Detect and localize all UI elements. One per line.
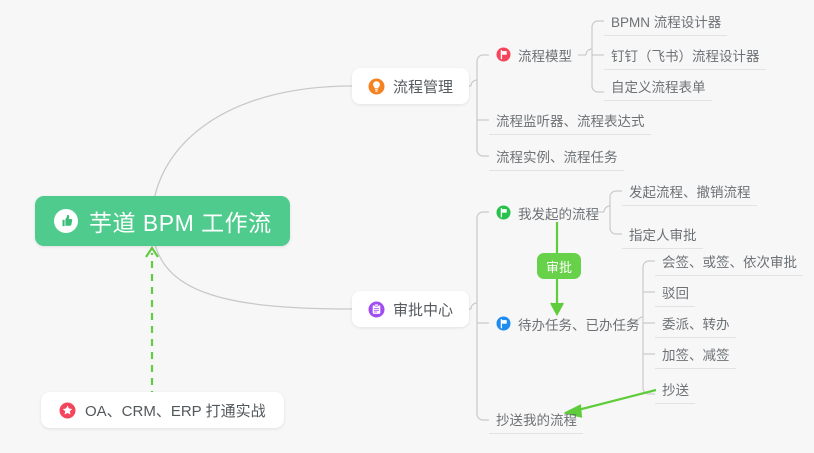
- dashed-arrow-to-root: [146, 248, 158, 398]
- node-my-started-process-label: 我发起的流程: [518, 203, 599, 223]
- node-my-started-process[interactable]: 我发起的流程: [489, 198, 605, 227]
- node-bpmn-designer-label: BPMN 流程设计器: [611, 11, 721, 31]
- root-node[interactable]: 芋道 BPM 工作流: [35, 196, 290, 246]
- node-add-remove-sign[interactable]: 加签、减签: [655, 340, 736, 369]
- flag-icon: [496, 205, 511, 220]
- node-add-remove-sign-label: 加签、减签: [662, 344, 730, 364]
- node-assignee-approval[interactable]: 指定人审批: [622, 220, 703, 249]
- node-bpmn-designer[interactable]: BPMN 流程设计器: [604, 7, 727, 36]
- node-process-instance-label: 流程实例、流程任务: [496, 146, 618, 166]
- lightbulb-icon: [368, 78, 385, 95]
- branch-process-management[interactable]: 流程管理: [352, 68, 469, 104]
- node-integration-practice[interactable]: OA、CRM、ERP 打通实战: [41, 392, 284, 428]
- node-integration-practice-label: OA、CRM、ERP 打通实战: [85, 400, 266, 421]
- node-dingtalk-designer-label: 钉钉（飞书）流程设计器: [611, 45, 760, 65]
- approval-badge[interactable]: 审批: [537, 253, 581, 279]
- node-reject[interactable]: 驳回: [655, 278, 695, 307]
- node-process-model[interactable]: 流程模型: [489, 40, 578, 69]
- thumbs-up-icon: [53, 208, 79, 234]
- node-cc-to-me-process[interactable]: 抄送我的流程: [489, 405, 583, 434]
- node-delegate-transfer-label: 委派、转办: [662, 313, 730, 333]
- node-cc[interactable]: 抄送: [655, 375, 695, 404]
- branch-approval-center-label: 审批中心: [393, 299, 453, 320]
- node-custom-form-label: 自定义流程表单: [611, 76, 706, 96]
- clipboard-icon: [368, 301, 385, 318]
- mindmap-canvas: 芋道 BPM 工作流 流程管理 流程模型 BPMN 流程设计器 钉钉（飞书）流程: [0, 0, 814, 453]
- node-todo-done-tasks[interactable]: 待办任务、已办任务: [489, 309, 646, 338]
- node-process-instance[interactable]: 流程实例、流程任务: [489, 142, 624, 171]
- node-start-cancel-process[interactable]: 发起流程、撤销流程: [622, 177, 757, 206]
- flag-icon: [496, 47, 511, 62]
- root-label: 芋道 BPM 工作流: [89, 204, 272, 238]
- node-custom-form[interactable]: 自定义流程表单: [604, 72, 712, 101]
- node-reject-label: 驳回: [662, 282, 689, 302]
- approval-badge-label: 审批: [546, 257, 572, 276]
- star-icon: [59, 402, 76, 419]
- node-process-listener[interactable]: 流程监听器、流程表达式: [489, 106, 651, 135]
- node-cc-label: 抄送: [662, 379, 689, 399]
- node-start-cancel-process-label: 发起流程、撤销流程: [629, 181, 751, 201]
- node-countersign[interactable]: 会签、或签、依次审批: [655, 247, 803, 276]
- node-todo-done-tasks-label: 待办任务、已办任务: [518, 314, 640, 334]
- node-delegate-transfer[interactable]: 委派、转办: [655, 309, 736, 338]
- branch-process-management-label: 流程管理: [393, 76, 453, 97]
- node-cc-to-me-process-label: 抄送我的流程: [496, 409, 577, 429]
- node-process-model-label: 流程模型: [518, 45, 572, 65]
- node-countersign-label: 会签、或签、依次审批: [662, 251, 797, 271]
- branch-approval-center[interactable]: 审批中心: [352, 291, 469, 327]
- node-process-listener-label: 流程监听器、流程表达式: [496, 110, 645, 130]
- flag-icon: [496, 316, 511, 331]
- node-dingtalk-designer[interactable]: 钉钉（飞书）流程设计器: [604, 41, 766, 70]
- node-assignee-approval-label: 指定人审批: [629, 224, 697, 244]
